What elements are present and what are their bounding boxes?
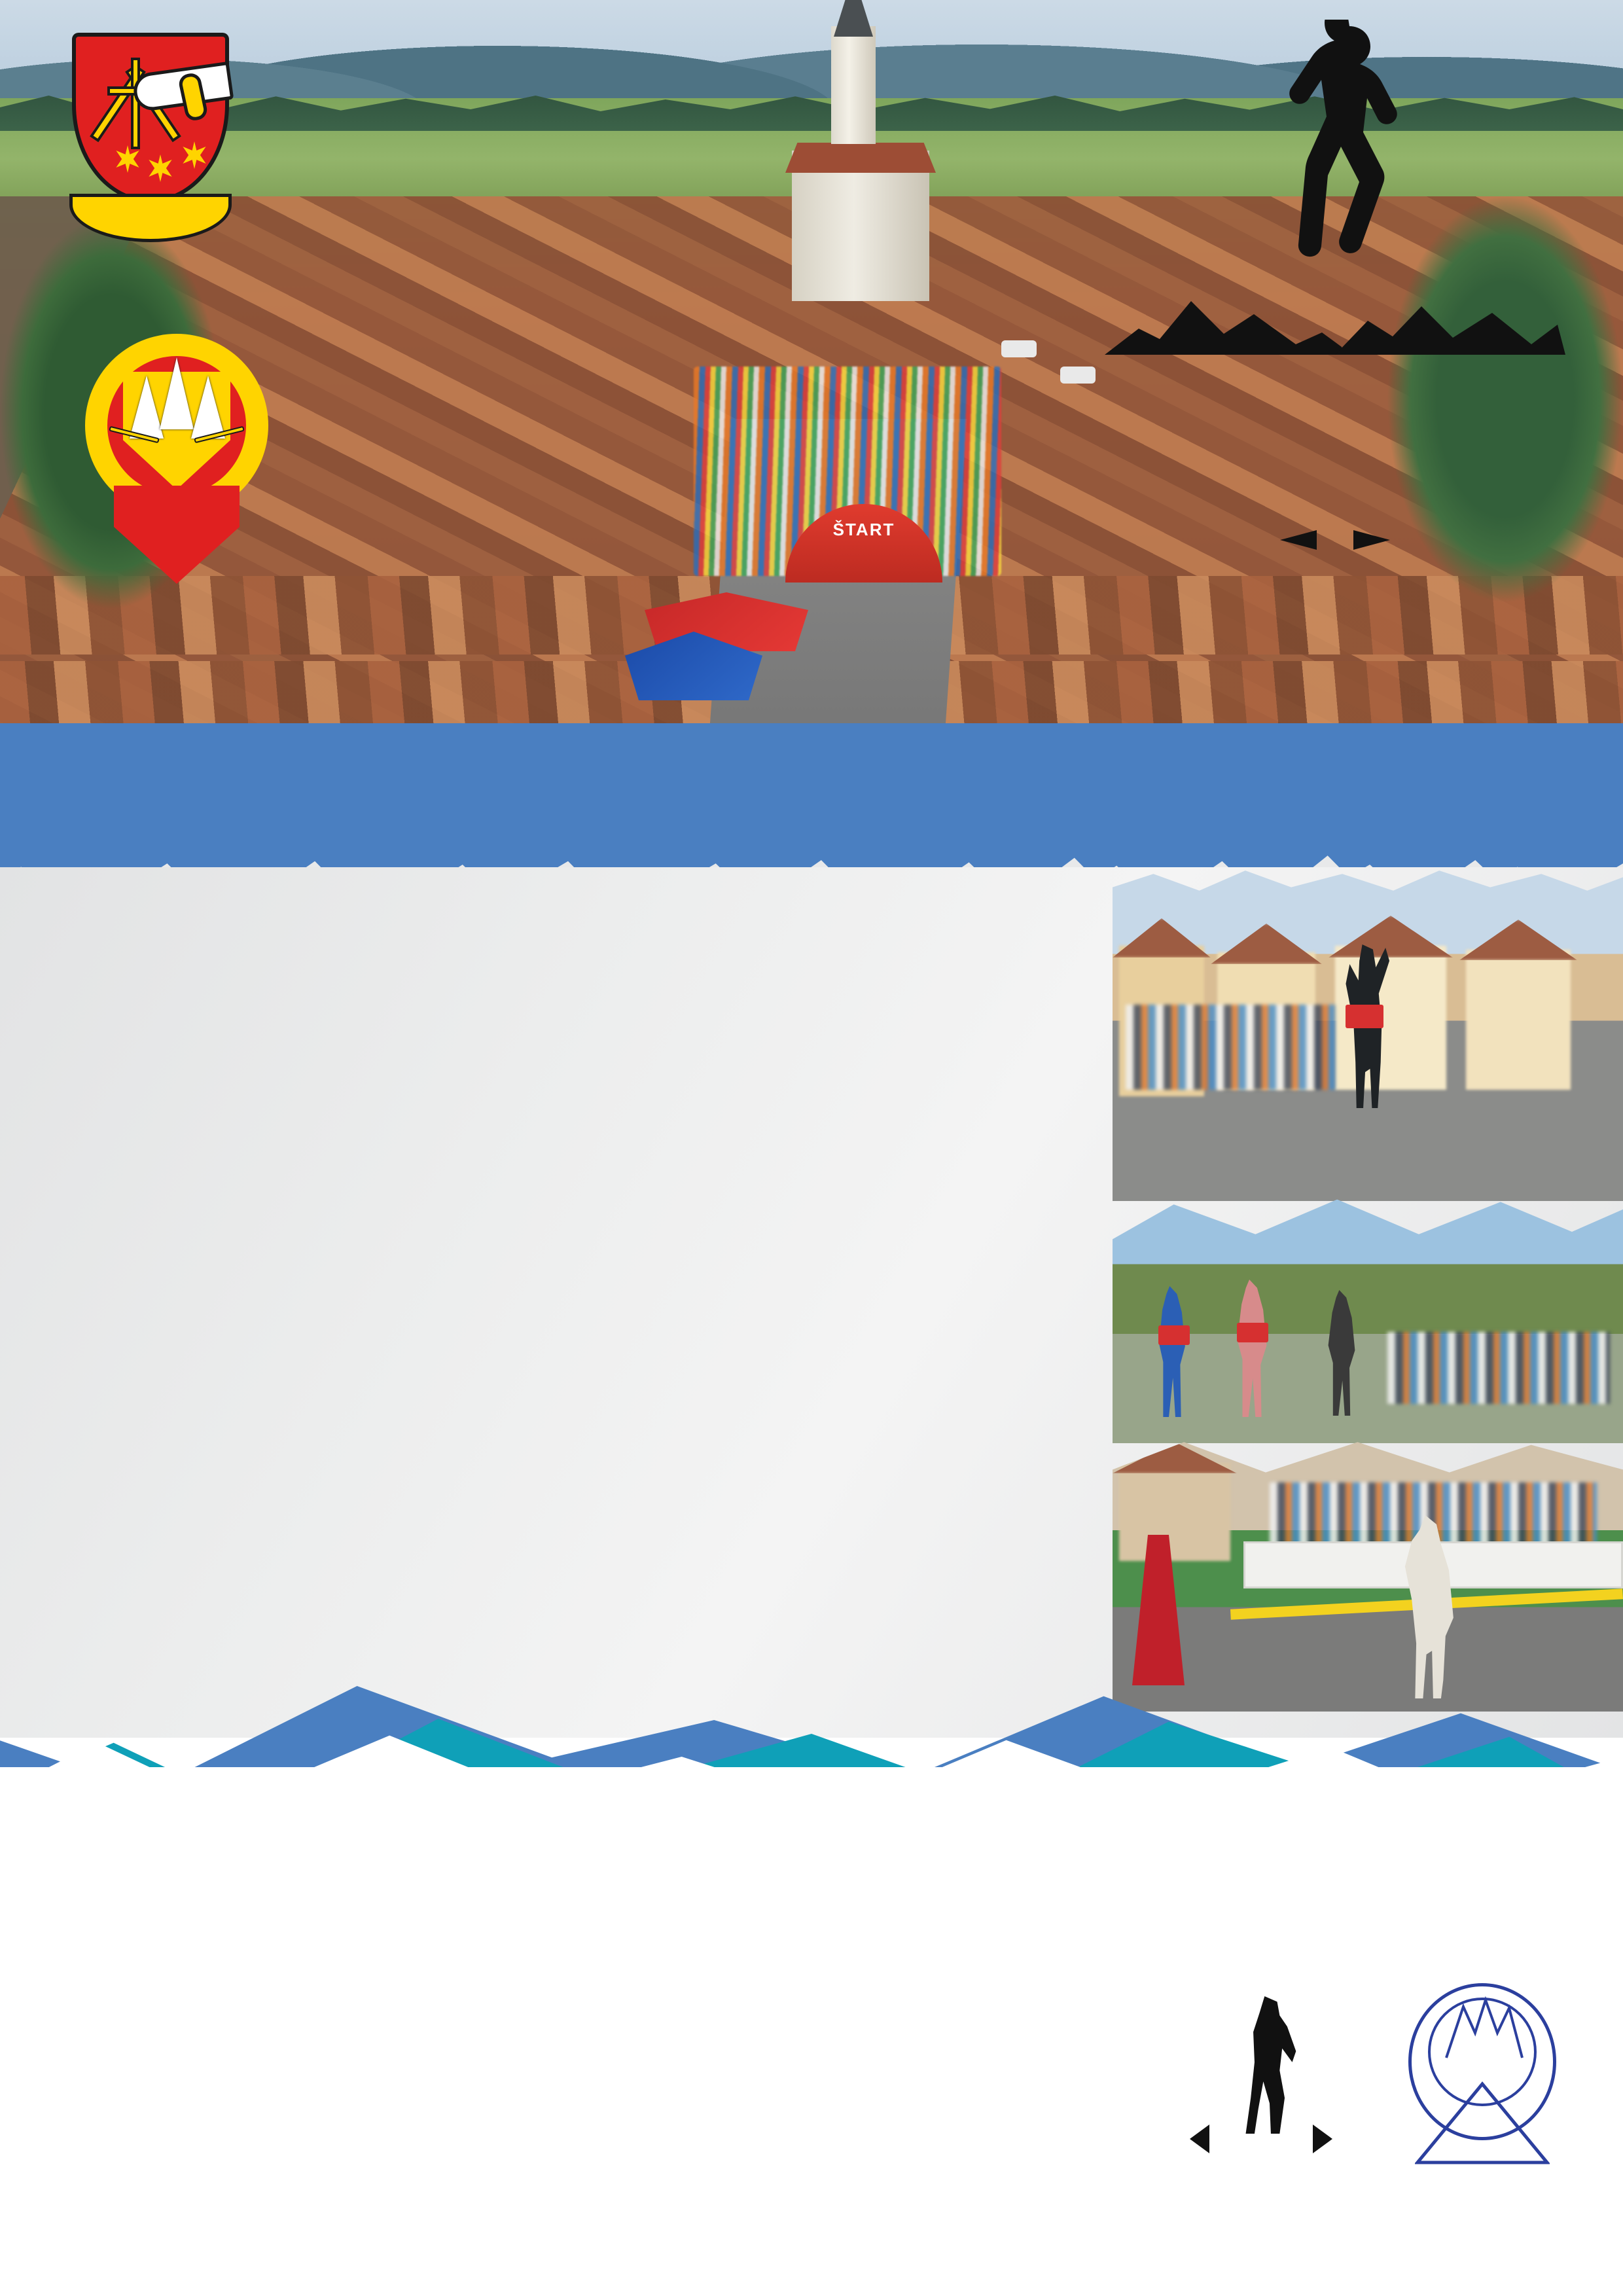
- msm-mark: [1178, 1990, 1342, 2173]
- msm-runner-icon: [1238, 1996, 1301, 2134]
- crest-ribbon: [69, 194, 232, 242]
- photo-finisher-woman: [1113, 867, 1623, 1201]
- crest-shield: [72, 33, 229, 203]
- bib-number: [1237, 1323, 1268, 1342]
- msm-arrow-right-icon: [1313, 2125, 1332, 2153]
- photo-collage: [1113, 867, 1623, 1712]
- hero-car: [1001, 340, 1037, 357]
- strba-coat-of-arms: [65, 26, 236, 262]
- triangle-left-icon: [1279, 529, 1318, 551]
- hero-church-spire: [834, 0, 873, 37]
- msm-arrow-left-icon: [1190, 2125, 1209, 2153]
- mountain-ridge-icon: [1099, 281, 1571, 367]
- certificate-banner: [0, 723, 1623, 867]
- hero-start-label: ŠTART: [785, 520, 942, 540]
- triangle-right-icon: [1352, 529, 1391, 551]
- runner-silhouette-icon: [1276, 20, 1427, 517]
- sponsor-footer: [0, 1767, 1623, 2296]
- club-bottom-arc-text: [85, 339, 268, 431]
- event-distances: [1099, 281, 1571, 360]
- club-bottom-shield: [114, 486, 240, 584]
- event-edition: [1060, 517, 1610, 558]
- event-logo: [1060, 20, 1610, 589]
- hero-church-body: [792, 151, 929, 301]
- bib-number: [1158, 1325, 1190, 1345]
- photo-runners-group: [1113, 1194, 1623, 1443]
- bib-number: [1346, 1005, 1383, 1028]
- sks-club-logo: [85, 334, 268, 589]
- sks-stamp: [1400, 1983, 1564, 2179]
- sks-stamp-arc-text: [1400, 1983, 1564, 2140]
- hero-church-roof: [785, 143, 936, 173]
- hero-church-tower: [831, 26, 876, 144]
